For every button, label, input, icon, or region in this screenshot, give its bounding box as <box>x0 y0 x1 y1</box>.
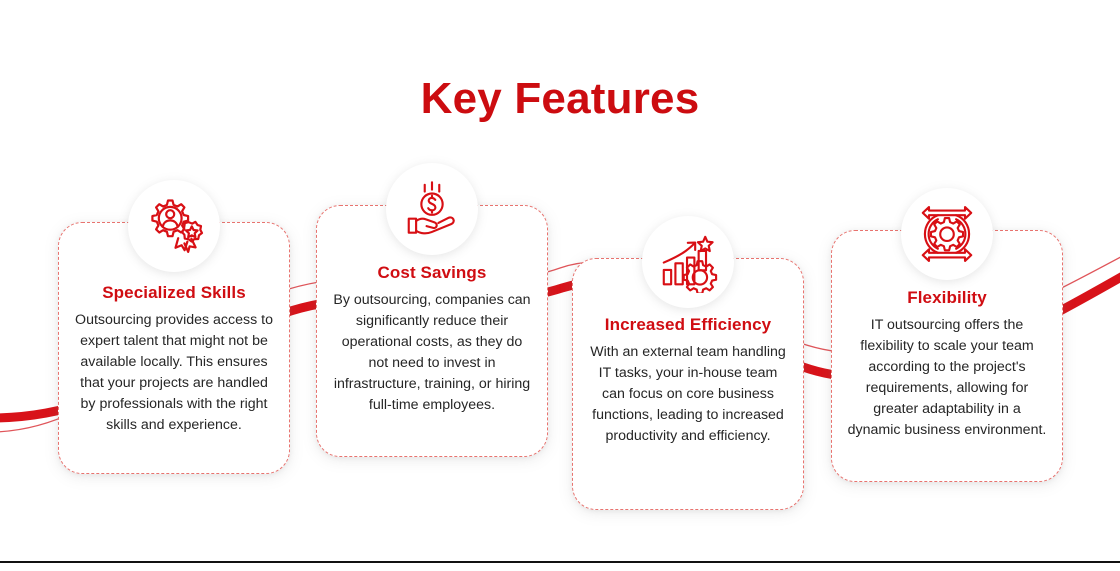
page-title: Key Features <box>0 74 1120 124</box>
feature-card-title: Cost Savings <box>331 263 533 283</box>
growth-bar-chart-gear-icon <box>657 231 719 293</box>
gear-person-award-icon <box>142 194 206 258</box>
bottom-divider-rule <box>0 561 1120 563</box>
circular-arrows-gear-icon <box>916 203 978 265</box>
feature-card-title: Specialized Skills <box>73 283 275 303</box>
feature-card-title: Flexibility <box>846 288 1048 308</box>
feature-card-body: Outsourcing provides access to expert ta… <box>73 310 275 436</box>
feature-card-body: By outsourcing, companies can significan… <box>331 290 533 416</box>
feature-card-body: IT outsourcing offers the flexibility to… <box>846 315 1048 441</box>
feature-card-body: With an external team handling IT tasks,… <box>587 342 789 447</box>
hand-holding-dollar-coin-icon <box>401 178 463 240</box>
feature-card-title: Increased Efficiency <box>587 315 789 335</box>
gear-person-award-icon-badge <box>128 180 220 272</box>
infographic-canvas: Key Features Specialized Skills Outsourc… <box>0 0 1120 571</box>
growth-bar-chart-gear-icon-badge <box>642 216 734 308</box>
circular-arrows-gear-icon-badge <box>901 188 993 280</box>
hand-holding-dollar-coin-icon-badge <box>386 163 478 255</box>
